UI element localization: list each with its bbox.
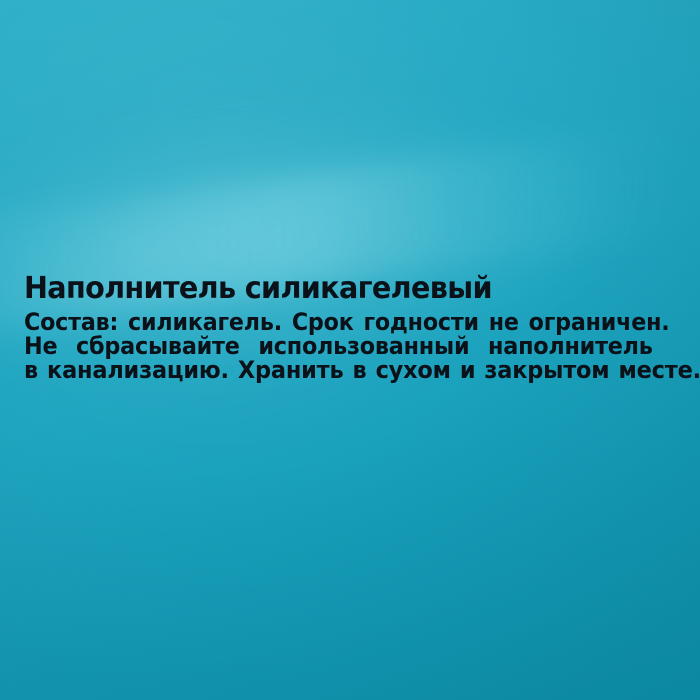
product-package-label: Наполнитель силикагелевый Состав: силика… <box>0 0 700 700</box>
description-line: Состав: силикагель. Срок годности не огр… <box>24 310 627 334</box>
description-line: Не сбрасывайте использованный наполнител… <box>24 334 630 358</box>
product-name-heading: Наполнитель силикагелевый <box>24 272 647 306</box>
product-description-body: Состав: силикагель. Срок годности не огр… <box>24 310 676 382</box>
label-text-block: Наполнитель силикагелевый Состав: силика… <box>24 272 676 382</box>
description-line: в канализацию. Хранить в сухом и закрыто… <box>24 358 634 382</box>
